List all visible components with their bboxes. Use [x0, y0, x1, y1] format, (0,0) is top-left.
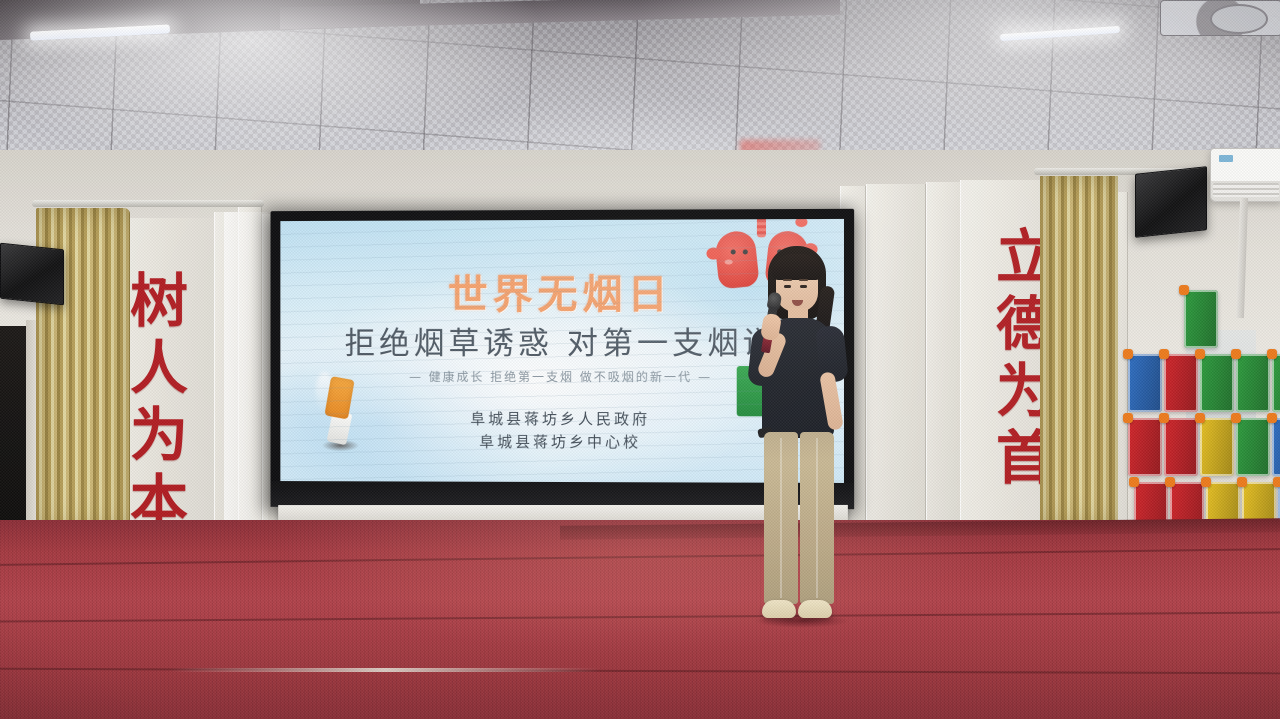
cube-connector: [1267, 349, 1277, 359]
cube-connector: [1123, 413, 1133, 423]
storage-cube: [1236, 354, 1270, 412]
speaker-icon: [0, 243, 64, 306]
wall-panel: [866, 184, 926, 538]
cube-connector: [1273, 477, 1280, 487]
cube-connector: [1179, 285, 1189, 295]
storage-cube: [1164, 354, 1198, 412]
hair-fringe: [772, 254, 822, 280]
shoe: [762, 600, 796, 618]
wall-panel: [926, 182, 962, 538]
calligraphy-char: 人: [122, 339, 196, 398]
eyebrow: [799, 279, 808, 281]
cube-connector: [1165, 477, 1175, 487]
cube-connector: [1195, 349, 1205, 359]
trousers: [764, 432, 834, 604]
storage-cube: [1200, 418, 1234, 476]
cube-connector: [1267, 413, 1277, 423]
cube-connector: [1123, 349, 1133, 359]
smoke-detector-icon: [1210, 4, 1268, 34]
curtain-rod: [32, 200, 264, 207]
photo-scene: 树 人 为 本 立 德 为 首: [0, 0, 1280, 719]
cube-connector: [1237, 477, 1247, 487]
storage-cube: [1128, 418, 1162, 476]
storage-cube: [1164, 418, 1198, 476]
cube-connector: [1201, 477, 1211, 487]
wall-calligraphy-left: 树 人 为 本: [122, 272, 196, 541]
eyebrow: [783, 279, 792, 281]
eye: [784, 285, 791, 288]
eye: [800, 285, 807, 288]
cube-connector: [1159, 349, 1169, 359]
aircon-louvre: [1213, 183, 1279, 197]
cigarette-butt-icon: [322, 378, 360, 456]
storage-cube: [1272, 354, 1280, 412]
storage-cube: [1184, 290, 1218, 348]
cube-connector: [1159, 413, 1169, 423]
presenter: [740, 246, 860, 646]
storage-cube: [1200, 354, 1234, 412]
cube-connector: [1195, 413, 1205, 423]
cube-connector: [1129, 477, 1139, 487]
stage-floor: [0, 520, 1280, 719]
speaker-icon: [1135, 166, 1207, 238]
shoe: [798, 600, 832, 618]
stage-light-glow: [0, 520, 1280, 719]
calligraphy-char: 为: [122, 406, 196, 465]
storage-cube: [1272, 418, 1280, 476]
cube-connector: [1231, 349, 1241, 359]
cube-connector: [1231, 413, 1241, 423]
aircon-display: [1219, 155, 1233, 162]
storage-cube: [1236, 418, 1270, 476]
stage-curtain-right: [1040, 176, 1118, 526]
storage-cube: [1128, 354, 1162, 412]
calligraphy-char: 树: [122, 272, 196, 331]
air-conditioner-icon: [1210, 148, 1280, 202]
